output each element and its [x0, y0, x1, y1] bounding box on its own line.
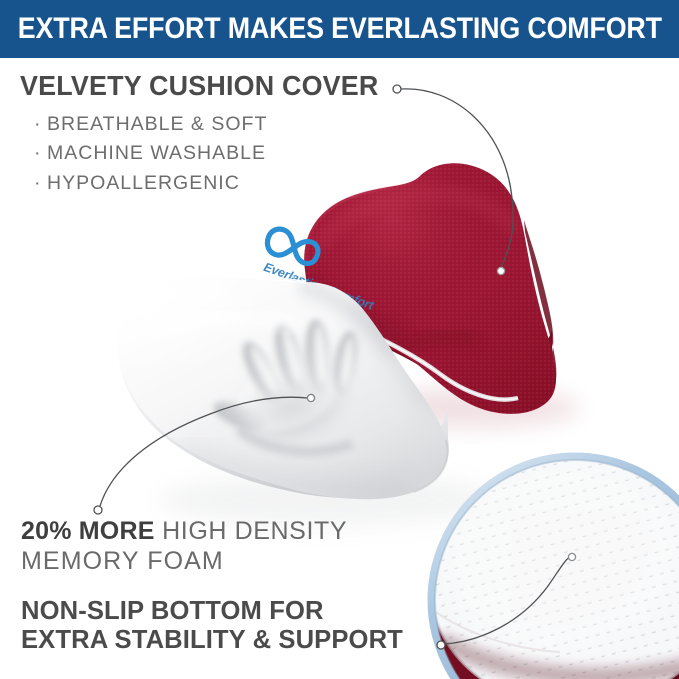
callout-foam-origin-dot: [94, 506, 102, 514]
bullet-text: MACHINE WASHABLE: [47, 142, 266, 164]
infinity-icon: [264, 226, 322, 268]
bullet-marker-icon: ·: [34, 169, 47, 199]
memory-foam-core: [86, 268, 449, 499]
brand-logo: Everlasting Comfort: [256, 226, 388, 313]
header-title: EXTRA EFFORT MAKES EVERLASTING COMFORT: [17, 14, 661, 44]
callout-foam-target-dot: [307, 394, 314, 401]
bullet-marker-icon: ·: [34, 110, 47, 140]
cover-feature-bullets: ·BREATHABLE & SOFT ·MACHINE WASHABLE ·HY…: [34, 110, 420, 199]
foam-feature-line-1-rest: HIGH DENSITY: [155, 517, 348, 545]
inset-ring: [435, 460, 679, 679]
cover-drop-shadow: [360, 388, 580, 428]
callout-foam: [94, 394, 315, 514]
cover-seam: [302, 276, 518, 400]
callout-nonslip-target-dot: [568, 553, 575, 560]
list-item: ·BREATHABLE & SOFT: [34, 110, 420, 140]
cover-feature-heading: VELVETY CUSHION COVER: [20, 71, 404, 101]
callout-cover-target-dot: [497, 267, 504, 274]
nonslip-feature-line-1: NON-SLIP BOTTOM FOR: [21, 596, 454, 625]
foam-feature-emphasis: 20% MORE: [21, 517, 155, 545]
list-item: ·MACHINE WASHABLE: [34, 139, 420, 169]
cover-feature-block: VELVETY CUSHION COVER ·BREATHABLE & SOFT…: [20, 71, 420, 199]
bullet-text: HYPOALLERGENIC: [47, 172, 240, 194]
nonslip-feature-line-2: EXTRA STABILITY & SUPPORT: [21, 625, 454, 654]
bullet-text: BREATHABLE & SOFT: [47, 113, 267, 135]
foam-feature-line-1: 20% MORE HIGH DENSITY: [21, 517, 441, 547]
brand-name: Everlasting Comfort: [262, 260, 376, 313]
foam-feature-line-2: MEMORY FOAM: [21, 547, 441, 577]
nonslip-feature-block: NON-SLIP BOTTOM FOR EXTRA STABILITY & SU…: [21, 596, 461, 655]
list-item: ·HYPOALLERGENIC: [34, 169, 420, 199]
bullet-marker-icon: ·: [34, 139, 47, 169]
product-infographic: EXTRA EFFORT MAKES EVERLASTING COMFORT: [0, 0, 679, 679]
foam-feature-block: 20% MORE HIGH DENSITY MEMORY FOAM: [21, 517, 441, 576]
hand-impression: [210, 318, 371, 469]
header-banner: EXTRA EFFORT MAKES EVERLASTING COMFORT: [0, 0, 679, 58]
